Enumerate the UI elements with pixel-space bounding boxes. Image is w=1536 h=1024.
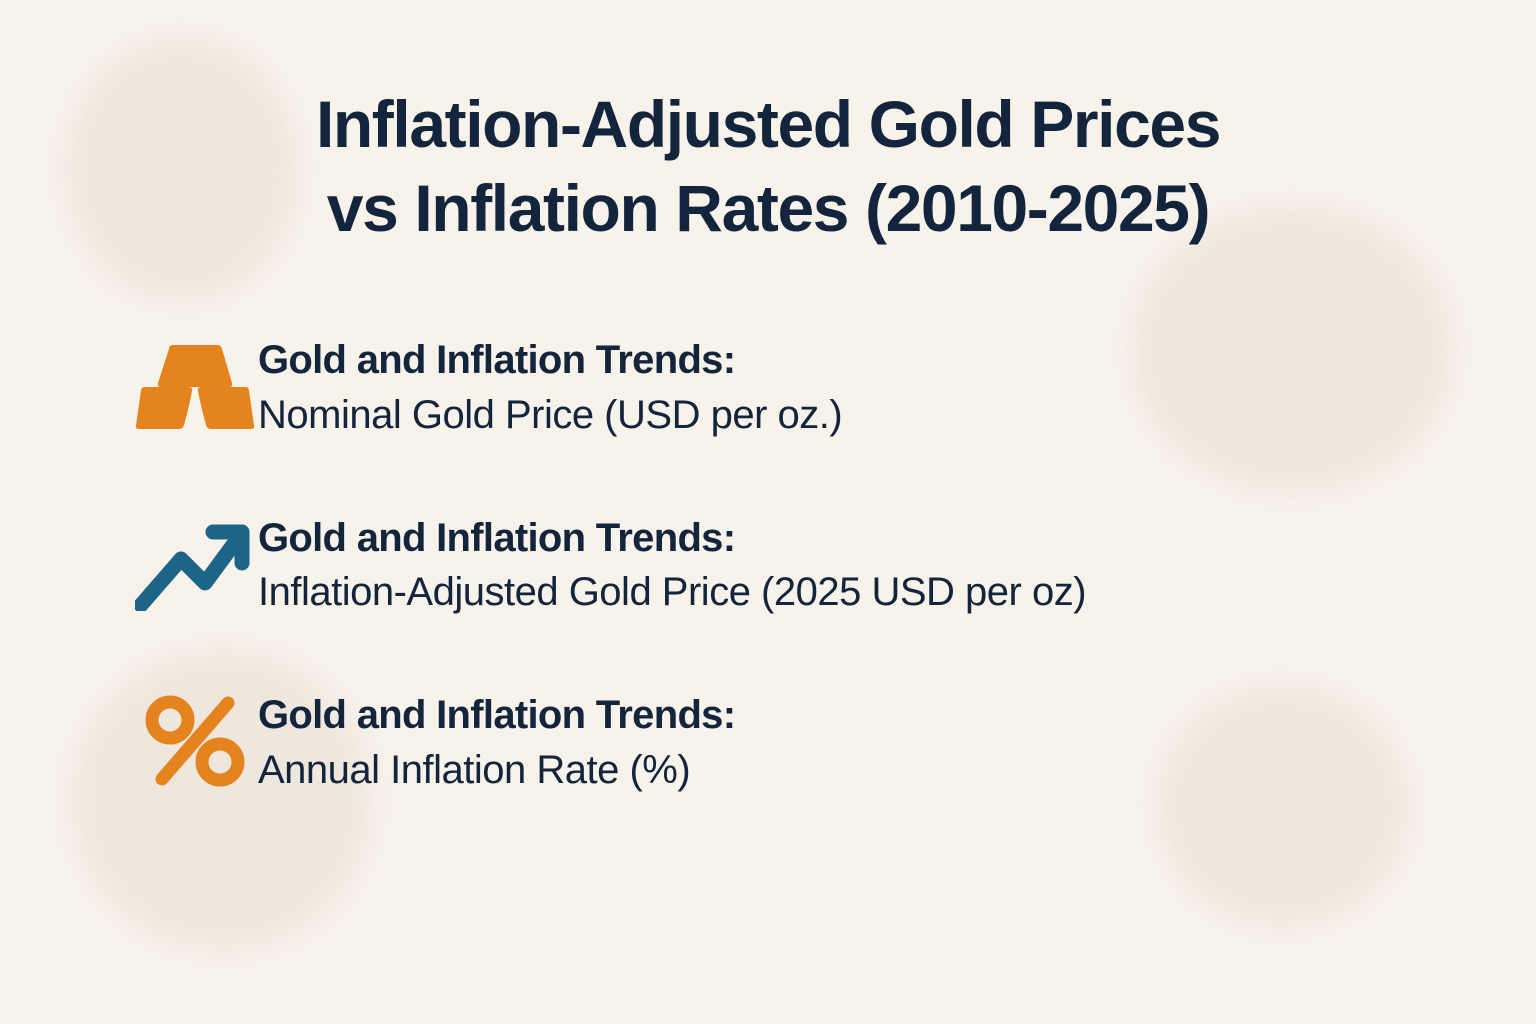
legend-item-nominal-gold-price: Gold and Inflation Trends: Nominal Gold … xyxy=(132,334,1492,440)
legend-item-heading: Gold and Inflation Trends: xyxy=(258,514,1492,563)
trend-up-arrow-icon xyxy=(132,512,258,616)
legend-item-subtitle: Inflation-Adjusted Gold Price (2025 USD … xyxy=(258,568,1492,617)
percent-icon xyxy=(132,689,258,793)
page-title: Inflation-Adjusted Gold Prices vs Inflat… xyxy=(0,82,1536,251)
legend-item-subtitle: Nominal Gold Price (USD per oz.) xyxy=(258,391,1492,440)
legend-item-inflation-adjusted-gold-price: Gold and Inflation Trends: Inflation-Adj… xyxy=(132,512,1492,618)
legend-item-subtitle: Annual Inflation Rate (%) xyxy=(258,746,1492,795)
legend-item-text: Gold and Inflation Trends: Nominal Gold … xyxy=(258,334,1492,440)
legend-item-heading: Gold and Inflation Trends: xyxy=(258,336,1492,385)
legend-item-annual-inflation-rate: Gold and Inflation Trends: Annual Inflat… xyxy=(132,689,1492,795)
legend-item-heading: Gold and Inflation Trends: xyxy=(258,691,1492,740)
gold-bars-icon xyxy=(132,334,258,438)
legend-item-text: Gold and Inflation Trends: Inflation-Adj… xyxy=(258,512,1492,618)
infographic-card: Inflation-Adjusted Gold Prices vs Inflat… xyxy=(0,0,1536,1024)
legend-list: Gold and Inflation Trends: Nominal Gold … xyxy=(132,334,1492,795)
legend-item-text: Gold and Inflation Trends: Annual Inflat… xyxy=(258,689,1492,795)
